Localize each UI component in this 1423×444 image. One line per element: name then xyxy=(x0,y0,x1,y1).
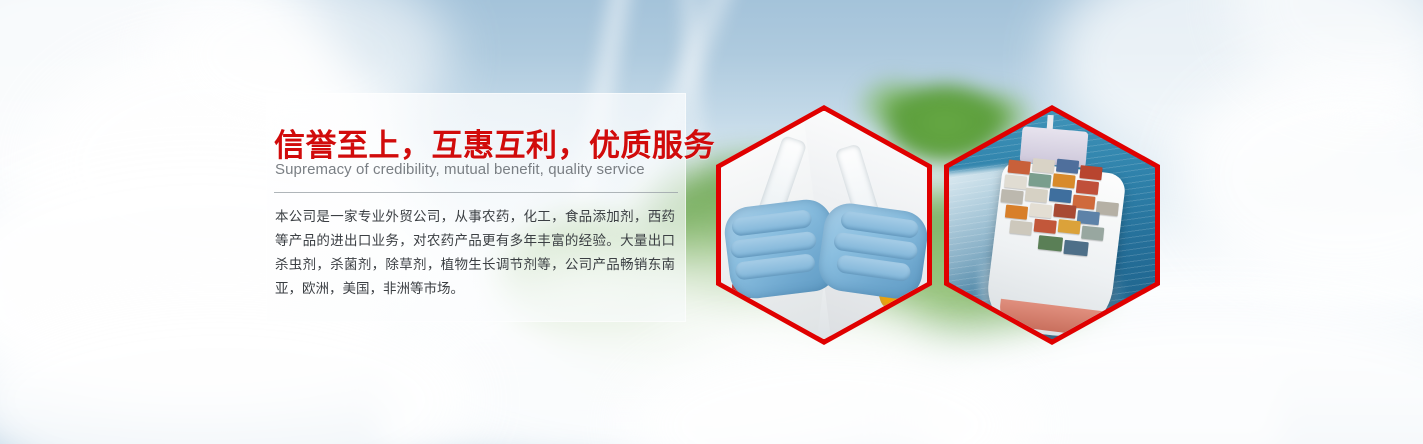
text-panel-inner: 信誉至上，互惠互利，优质服务 Supremacy of credibility,… xyxy=(266,93,686,322)
promo-banner: 信誉至上，互惠互利，优质服务 Supremacy of credibility,… xyxy=(0,0,1423,444)
glove-right xyxy=(815,200,927,302)
container-stacks xyxy=(991,149,1126,289)
headline: 信誉至上，互惠互利，优质服务 xyxy=(274,120,678,165)
subheadline: Supremacy of credibility, mutual benefit… xyxy=(275,161,679,178)
body-paragraph: 本公司是一家专业外贸公司，从事农药，化工，食品添加剂，西药等产品的进出口业务，对… xyxy=(275,205,675,301)
text-panel: 信誉至上，互惠互利，优质服务 Supremacy of credibility,… xyxy=(266,93,686,322)
divider xyxy=(274,192,678,193)
